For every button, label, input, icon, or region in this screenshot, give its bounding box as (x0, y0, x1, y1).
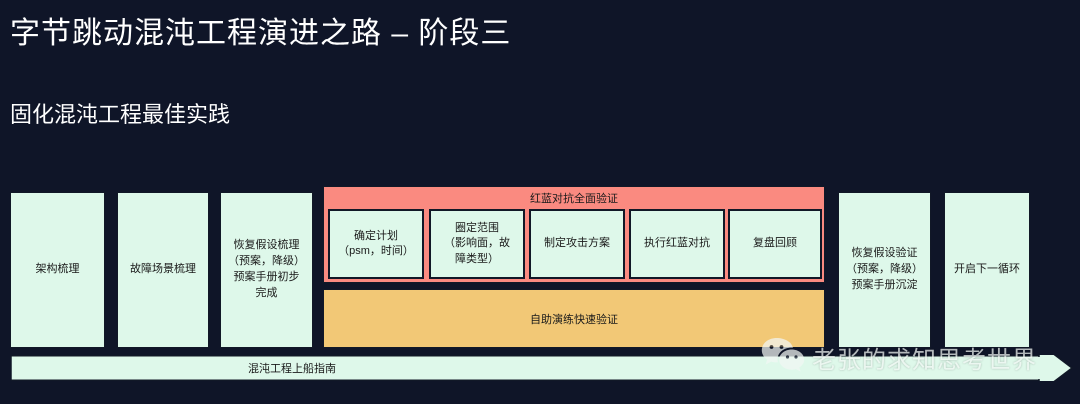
page-title: 字节跳动混沌工程演进之路 – 阶段三 (10, 8, 511, 52)
stage-box-5: 开启下一循环 (944, 192, 1030, 348)
red-step-5: 复盘回顾 (728, 209, 822, 279)
red-step-4: 执行红蓝对抗 (629, 209, 725, 279)
bottom-arrow: 混沌工程上船指南 (11, 355, 1073, 381)
stage-box-2: 故障场景梳理 (117, 192, 209, 348)
arrow-label: 混沌工程上船指南 (11, 355, 1073, 381)
slide-canvas: 字节跳动混沌工程演进之路 – 阶段三 固化混沌工程最佳实践 架构梳理 故障场景梳… (0, 0, 1080, 404)
stage-box-1: 架构梳理 (10, 192, 105, 348)
red-step-1: 确定计划（psm，时间） (328, 209, 424, 279)
red-team-band-title: 红蓝对抗全面验证 (324, 190, 824, 206)
stage-box-4: 恢复假设验证（预案，降级）预案手册沉淀 (838, 192, 931, 348)
red-step-3: 制定攻击方案 (529, 209, 625, 279)
page-subtitle: 固化混沌工程最佳实践 (10, 97, 230, 129)
stage-box-3: 恢复假设梳理（预案，降级）预案手册初步完成 (220, 192, 313, 348)
self-service-drill-band: 自助演练快速验证 (323, 289, 825, 348)
red-step-2: 圈定范围（影响面，故障类型） (429, 209, 525, 279)
red-team-band: 红蓝对抗全面验证 确定计划（psm，时间） 圈定范围（影响面，故障类型） 制定攻… (323, 186, 825, 283)
